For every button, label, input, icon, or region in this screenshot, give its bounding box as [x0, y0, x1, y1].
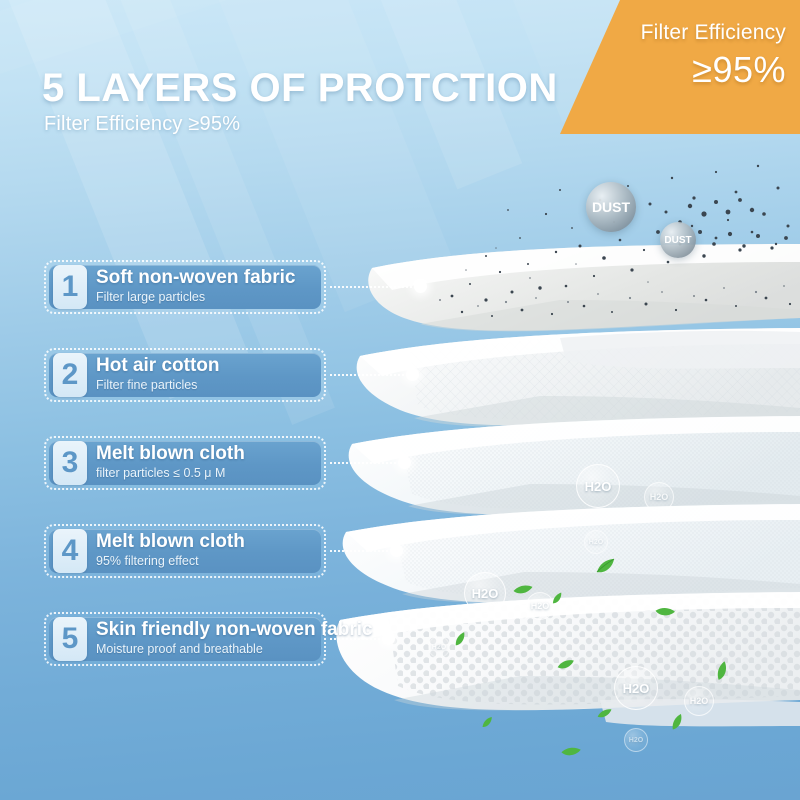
layer-title-4: Melt blown cloth: [96, 532, 245, 552]
h2o-label: H2O: [690, 696, 709, 706]
filter-efficiency-banner-text: Filter Efficiency ≥95%: [586, 22, 786, 90]
layer-title-2: Hot air cotton: [96, 356, 220, 376]
layer-number-badge-2: 2: [53, 353, 87, 397]
page-title: 5 LAYERS OF PROTCTION: [42, 66, 558, 111]
leaf-icon: [594, 556, 616, 578]
layer-title-5: Skin friendly non-woven fabric: [96, 620, 373, 640]
connector-dot-5: [382, 632, 395, 645]
layer-subtitle-4: 95% filtering effect: [96, 554, 245, 570]
h2o-bubble: H2O: [428, 636, 450, 658]
h2o-bubble: H2O: [624, 728, 648, 752]
h2o-label: H2O: [589, 539, 603, 546]
dust-label: DUST: [592, 199, 630, 215]
h2o-label: H2O: [623, 681, 650, 696]
h2o-label: H2O: [629, 737, 643, 744]
h2o-bubble: H2O: [584, 530, 608, 554]
connector-dot-4: [390, 544, 403, 557]
layer-subtitle-3: filter particles ≤ 0.5 μ M: [96, 466, 245, 482]
connector-dot-2: [406, 368, 419, 381]
leaf-icon: [479, 715, 495, 731]
dust-particle-large: DUST: [586, 182, 636, 232]
connector-line-4: [330, 550, 396, 552]
dust-particle-small: DUST: [660, 222, 696, 258]
layer-label-box-5[interactable]: 5 Skin friendly non-woven fabric Moistur…: [44, 612, 326, 666]
h2o-label: H2O: [531, 601, 550, 611]
connector-dot-3: [398, 456, 411, 469]
h2o-bubble: H2O: [644, 482, 674, 512]
connector-line-3: [330, 462, 404, 464]
h2o-label: H2O: [432, 644, 446, 651]
connector-line-1: [330, 286, 420, 288]
connector-line-2: [330, 374, 412, 376]
leaf-icon: [595, 705, 614, 724]
layer-label-box-2[interactable]: 2 Hot air cotton Filter fine particles: [44, 348, 326, 402]
connector-dot-1: [414, 280, 427, 293]
infographic-canvas: DUST DUST H2O H2O H2O H2O H2O H2O H2O H2…: [0, 0, 800, 800]
layer-label-box-4[interactable]: 4 Melt blown cloth 95% filtering effect: [44, 524, 326, 578]
banner-line-2: ≥95%: [586, 49, 786, 90]
layer-subtitle-1: Filter large particles: [96, 290, 296, 306]
layer-number-badge-1: 1: [53, 265, 87, 309]
layer-number-badge-3: 3: [53, 441, 87, 485]
layer-title-1: Soft non-woven fabric: [96, 268, 296, 288]
layer-number-badge-5: 5: [53, 617, 87, 661]
h2o-label: H2O: [585, 479, 612, 494]
layer-label-box-3[interactable]: 3 Melt blown cloth filter particles ≤ 0.…: [44, 436, 326, 490]
layer-subtitle-5: Moisture proof and breathable: [96, 642, 373, 658]
layer-title-3: Melt blown cloth: [96, 444, 245, 464]
h2o-bubble: H2O: [684, 686, 714, 716]
h2o-bubble: H2O: [464, 572, 506, 614]
layer-label-box-1[interactable]: 1 Soft non-woven fabric Filter large par…: [44, 260, 326, 314]
layer-subtitle-2: Filter fine particles: [96, 378, 220, 394]
banner-line-1: Filter Efficiency: [586, 22, 786, 43]
h2o-bubble: H2O: [614, 666, 658, 710]
page-subtitle: Filter Efficiency ≥95%: [44, 113, 240, 136]
h2o-label: H2O: [472, 586, 499, 601]
dust-label: DUST: [664, 235, 691, 246]
h2o-label: H2O: [650, 492, 669, 502]
h2o-bubble: H2O: [576, 464, 620, 508]
layer-number-badge-4: 4: [53, 529, 87, 573]
